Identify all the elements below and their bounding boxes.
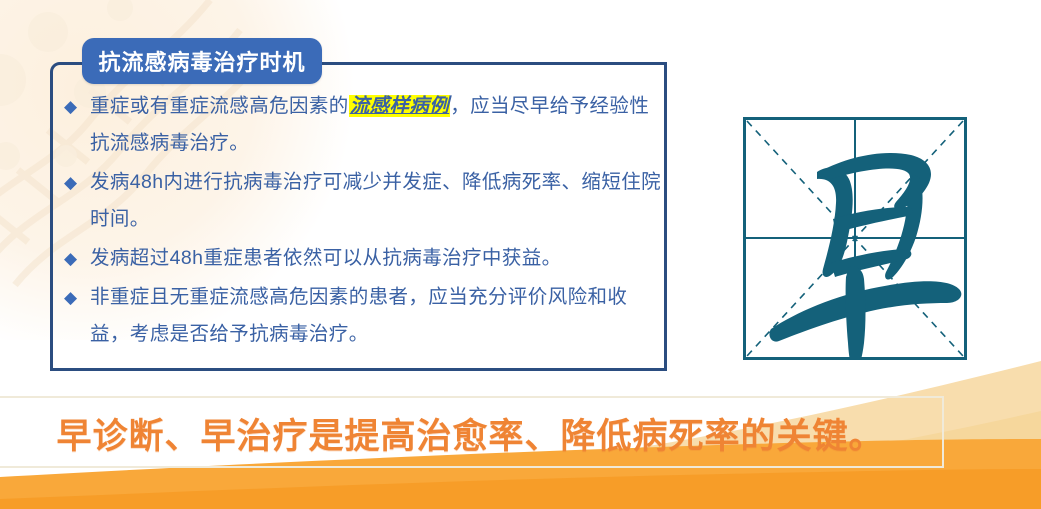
bullet-1-seg-a: 重症或有重症流感高危因素的 [90, 95, 349, 117]
bullet-text-3: 发病超过48h重症患者依然可以从抗病毒治疗中获益。 [90, 240, 662, 277]
section-title-label: 抗流感病毒治疗时机 [98, 45, 305, 77]
calligraphy-grid-box [743, 117, 967, 360]
diamond-bullet-icon: ◆ [62, 240, 90, 277]
diamond-bullet-icon: ◆ [62, 88, 90, 125]
bullet-text-1: 重症或有重症流感高危因素的流感样病例，应当尽早给予经验性抗流感病毒治疗。 [90, 88, 662, 162]
slide-canvas: 抗流感病毒治疗时机 ◆ 重症或有重症流感高危因素的流感样病例，应当尽早给予经验性… [0, 0, 1041, 509]
bullet-text-4: 非重症且无重症流感高危因素的患者，应当充分评价风险和收益，考虑是否给予抗病毒治疗… [90, 279, 662, 353]
list-item: ◆ 发病超过48h重症患者依然可以从抗病毒治疗中获益。 [62, 240, 662, 277]
list-item: ◆ 重症或有重症流感高危因素的流感样病例，应当尽早给予经验性抗流感病毒治疗。 [62, 88, 662, 162]
list-item: ◆ 发病48h内进行抗病毒治疗可减少并发症、降低病死率、缩短住院时间。 [62, 164, 662, 238]
slogan-text: 早诊断、早治疗是提高治愈率、降低病死率的关键。 [0, 408, 941, 459]
list-item: ◆ 非重症且无重症流感高危因素的患者，应当充分评价风险和收益，考虑是否给予抗病毒… [62, 279, 662, 353]
diamond-bullet-icon: ◆ [62, 279, 90, 316]
bullet-list: ◆ 重症或有重症流感高危因素的流感样病例，应当尽早给予经验性抗流感病毒治疗。 ◆… [62, 88, 662, 355]
bullet-text-2: 发病48h内进行抗病毒治疗可减少并发症、降低病死率、缩短住院时间。 [90, 164, 662, 238]
section-title-badge: 抗流感病毒治疗时机 [82, 38, 322, 84]
diamond-bullet-icon: ◆ [62, 164, 90, 201]
bullet-1-highlight: 流感样病例 [349, 95, 451, 117]
